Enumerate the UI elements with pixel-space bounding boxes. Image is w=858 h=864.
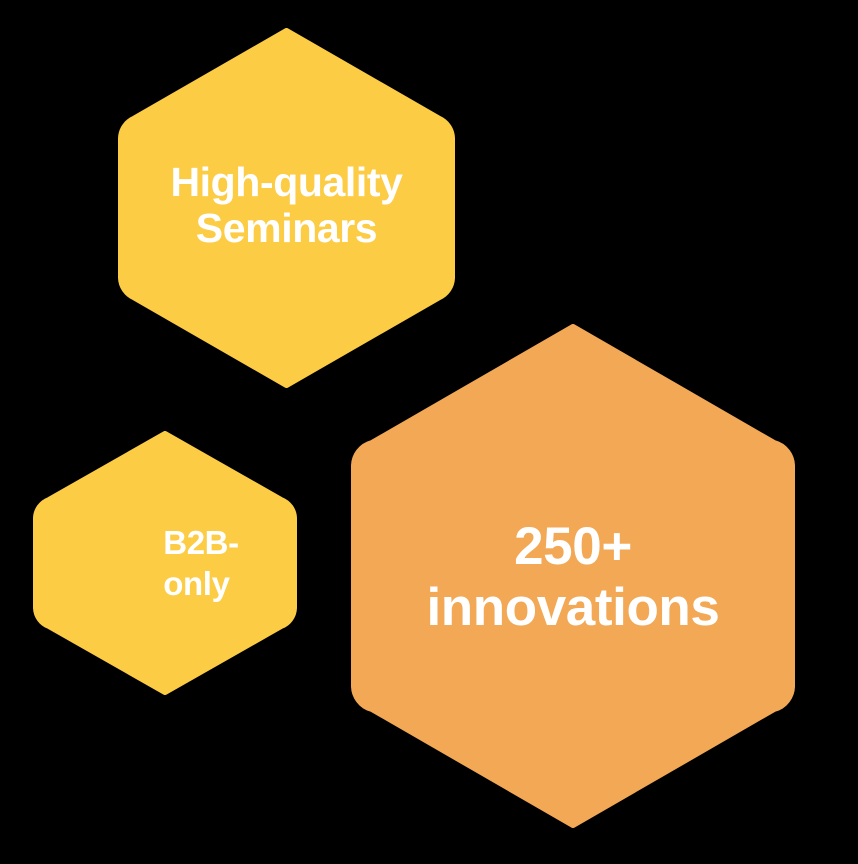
hexagon-label-innovations-count: 250+ innovations	[358, 516, 788, 639]
hexagon-innovations-count[interactable]: 250+ innovations	[351, 324, 795, 828]
hexagon-b2b-only[interactable]: B2B- only	[33, 431, 297, 695]
hexagon-infographic: High-quality Seminars B2B- only 250+ inn…	[0, 0, 858, 864]
hexagon-label-high-quality-seminars: High-quality Seminars	[122, 159, 452, 252]
hexagon-label-b2b-only: B2B- only	[163, 523, 238, 605]
